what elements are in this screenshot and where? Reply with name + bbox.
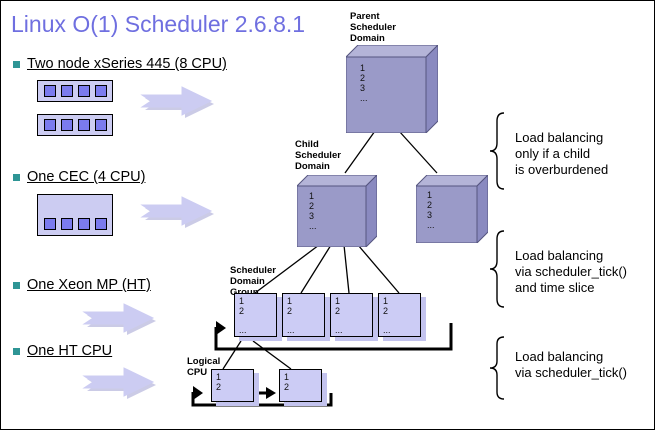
annotation-line: Load balancing: [515, 130, 608, 146]
cpu-core-icon: [44, 85, 56, 97]
cpu-core-icon: [44, 218, 56, 230]
domain-entry: ...: [309, 221, 317, 231]
block-arrow-cec: [139, 194, 211, 224]
bullet-label: One Xeon MP (HT): [27, 277, 151, 293]
cpu-core-icon: [95, 119, 107, 131]
cpu-core-icon: [61, 218, 73, 230]
logical-cpu-entry-list: 1 2 ...: [216, 372, 224, 404]
domain-entry: 2: [360, 73, 368, 83]
caption-line: Child: [295, 139, 341, 150]
caption-parent-scheduler-domain: Parent Scheduler Domain: [350, 11, 396, 44]
domain-entry: 2: [309, 201, 317, 211]
cpu-core-icon: [78, 119, 90, 131]
bullet-label: Two node xSeries 445 (8 CPU): [27, 56, 227, 72]
logical-cpu-entry: ...: [216, 394, 224, 404]
domain-entry: ...: [360, 93, 368, 103]
annotation-load-balancing-tick: Load balancing via scheduler_tick(): [515, 349, 627, 381]
logical-cpu-entry: 1: [216, 372, 224, 382]
logical-cpu-entry: 1: [284, 372, 292, 382]
annotation-line: via scheduler_tick(): [515, 264, 627, 280]
cpu-core-icon: [61, 85, 73, 97]
bullet-square-icon: [13, 348, 20, 355]
cpu-node-box-xseries-1: [37, 80, 113, 102]
bullet-square-icon: [13, 174, 20, 181]
group-entry: ...: [287, 325, 295, 335]
cpu-core-icon: [61, 119, 73, 131]
domain-entry: 1: [360, 63, 368, 73]
scheduler-domain-group-box: 1 2 ...: [234, 293, 277, 337]
annotation-line: Load balancing: [515, 248, 627, 264]
group-entry: ...: [335, 325, 343, 335]
group-entry: 2: [287, 306, 295, 316]
caption-line: Domain: [295, 161, 341, 172]
bullet-label: One HT CPU: [27, 343, 112, 359]
logical-cpu-entry-list: 1 2 ...: [284, 372, 292, 404]
domain-entry: 1: [309, 191, 317, 201]
group-entry-list: 1 2 ...: [335, 296, 343, 335]
page-title: Linux O(1) Scheduler 2.6.8.1: [11, 11, 305, 38]
bullet-item-xseries: Two node xSeries 445 (8 CPU): [13, 56, 227, 72]
scheduler-domain-group-box: 1 2 ...: [378, 293, 421, 337]
domain-entry: 3: [427, 210, 435, 220]
caption-line: Domain: [230, 276, 276, 287]
group-entry: 1: [383, 296, 391, 306]
caption-line: Scheduler: [230, 265, 276, 276]
group-entry: ...: [383, 325, 391, 335]
group-entry-list: 1 2 ...: [239, 296, 247, 335]
domain-entry: 3: [360, 83, 368, 93]
cpu-core-icon: [44, 119, 56, 131]
bullet-square-icon: [13, 61, 20, 68]
group-entry-list: 1 2 ...: [287, 296, 295, 335]
caption-line: Scheduler: [350, 22, 396, 33]
logical-cpu-box: 1 2 ...: [279, 369, 322, 402]
domain-entry-list: 1 2 3 ...: [427, 190, 435, 230]
annotation-load-balancing-tick-timeslice: Load balancing via scheduler_tick() and …: [515, 248, 627, 296]
group-entry: 1: [287, 296, 295, 306]
block-arrow-xseries: [139, 84, 211, 114]
bullet-item-xeon-mp: One Xeon MP (HT): [13, 277, 151, 293]
scheduler-domain-group-box: 1 2 ...: [282, 293, 325, 337]
block-arrow-ht-cpu: [81, 365, 153, 395]
group-entry: 2: [335, 306, 343, 316]
domain-entry: 2: [427, 200, 435, 210]
annotation-line: via scheduler_tick(): [515, 365, 627, 381]
logical-cpu-entry: 2: [216, 382, 224, 392]
group-entry: ...: [239, 325, 247, 335]
logical-cpu-box: 1 2 ...: [211, 369, 254, 402]
annotation-line: only if a child: [515, 146, 608, 162]
caption-child-scheduler-domain: Child Scheduler Domain: [295, 139, 341, 172]
logical-cpu-entry: ...: [284, 394, 292, 404]
logical-cpu-entry: 2: [284, 382, 292, 392]
annotation-load-balancing-child: Load balancing only if a child is overbu…: [515, 130, 608, 178]
bullet-label: One CEC (4 CPU): [27, 169, 145, 185]
caption-line: Logical: [187, 356, 220, 367]
domain-entry-list: 1 2 3 ...: [309, 191, 317, 231]
block-arrow-xeon-mp: [81, 301, 153, 331]
cpu-core-icon: [78, 218, 90, 230]
domain-entry: 1: [427, 190, 435, 200]
annotation-line: is overburdened: [515, 162, 608, 178]
cpu-core-icon: [95, 218, 107, 230]
bullet-square-icon: [13, 282, 20, 289]
bullet-item-cec: One CEC (4 CPU): [13, 169, 145, 185]
scheduler-domain-box-parent: 1 2 3 ...: [346, 45, 438, 133]
caption-line: Scheduler: [295, 150, 341, 161]
domain-entry: 3: [309, 211, 317, 221]
domain-entry: ...: [427, 220, 435, 230]
cpu-node-box-xseries-2: [37, 114, 113, 136]
group-entry: 2: [383, 306, 391, 316]
cpu-node-box-cec: [37, 194, 113, 236]
cpu-core-icon: [95, 85, 107, 97]
annotation-line: and time slice: [515, 280, 627, 296]
group-entry: 2: [239, 306, 247, 316]
annotation-line: Load balancing: [515, 349, 627, 365]
caption-line: Parent: [350, 11, 396, 22]
scheduler-domain-box-child-right: 1 2 3 ...: [416, 175, 488, 243]
group-entry: 1: [335, 296, 343, 306]
cpu-core-icon: [78, 85, 90, 97]
group-entry: 1: [239, 296, 247, 306]
caption-line: Domain: [350, 33, 396, 44]
slide-canvas: Linux O(1) Scheduler 2.6.8.1 Two node xS…: [0, 0, 655, 430]
group-entry-list: 1 2 ...: [383, 296, 391, 335]
bullet-item-ht-cpu: One HT CPU: [13, 343, 112, 359]
scheduler-domain-box-child-left: 1 2 3 ...: [297, 175, 377, 247]
scheduler-domain-group-box: 1 2 ...: [330, 293, 373, 337]
domain-entry-list: 1 2 3 ...: [360, 63, 368, 103]
